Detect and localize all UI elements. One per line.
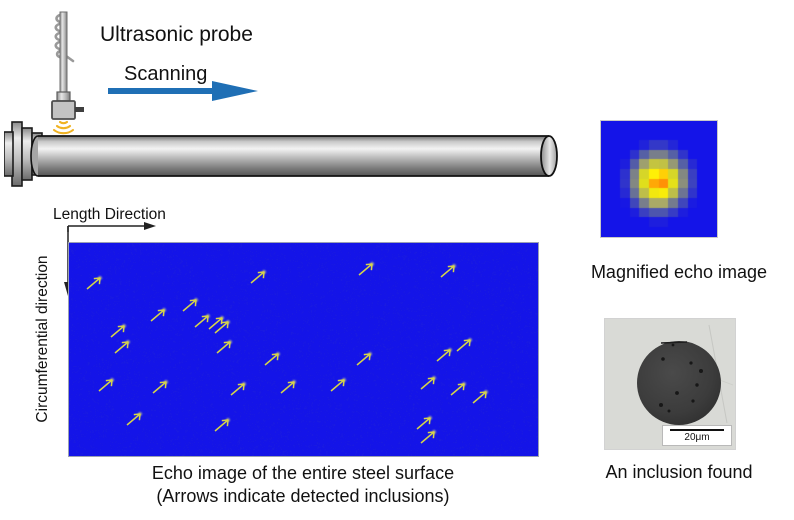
- inclusion-arrow-head: [99, 278, 100, 284]
- inclusion-arrow-head: [433, 378, 434, 384]
- inclusion-arrow-head: [243, 384, 244, 390]
- pipe-end-cap: [541, 136, 557, 176]
- inclusion-arrow-shaft: [183, 300, 196, 311]
- inclusion-arrow-head: [163, 310, 164, 316]
- inclusion-arrow-shaft: [111, 326, 124, 337]
- inclusion-caption: An inclusion found: [565, 462, 793, 483]
- inclusion-arrow-head: [433, 432, 434, 438]
- main-echo-caption-line1: Echo image of the entire steel surface: [68, 462, 538, 485]
- inclusion-arrow-head: [463, 384, 464, 390]
- scale-bar: 20μm: [662, 425, 732, 446]
- inclusion-arrow-head: [127, 342, 128, 348]
- inclusion-arrow-head: [258, 272, 264, 273]
- inclusion-arrow-head: [165, 382, 166, 388]
- inclusion-arrow-head: [106, 380, 112, 381]
- inclusion-arrow-shaft: [215, 420, 228, 431]
- magnified-echo-heatmap: [601, 121, 717, 237]
- inclusion-arrow-shaft: [473, 392, 486, 403]
- inclusion-arrow-head: [277, 354, 278, 360]
- inclusion-arrow-shaft: [421, 432, 434, 443]
- inclusion-arrow-head: [469, 340, 470, 346]
- inclusion-arrow-shaft: [195, 316, 208, 327]
- ultrasonic-probe-label: Ultrasonic probe: [100, 23, 253, 47]
- inclusion-arrow-head: [424, 418, 430, 419]
- inclusion-micrograph: 20μm: [604, 318, 736, 450]
- inclusion-arrow-shaft: [231, 384, 244, 395]
- inclusion-arrow-shaft: [421, 378, 434, 389]
- scanning-label: Scanning: [124, 63, 207, 86]
- probe-shaft: [60, 12, 67, 94]
- inclusion-arrow-head: [94, 278, 100, 279]
- inclusion-arrow-head: [139, 414, 140, 420]
- length-direction-label: Length Direction: [53, 206, 166, 224]
- inclusion-arrow-head: [364, 354, 370, 355]
- inclusion-arrow-shaft: [441, 266, 454, 277]
- inclusion-arrow-head: [158, 310, 164, 311]
- probe-head: [52, 101, 75, 119]
- inclusion-arrow-head: [449, 350, 450, 356]
- inclusion-arrow-head: [229, 342, 230, 348]
- inclusion-arrow-head: [338, 380, 344, 381]
- main-echo-image: [68, 242, 539, 457]
- inclusion-arrow-head: [207, 316, 208, 322]
- inclusion-arrow-shaft: [115, 342, 128, 353]
- magnified-echo-caption: Magnified echo image: [565, 262, 793, 283]
- inclusion-arrow-head: [343, 380, 344, 386]
- steel-pipe-illustration: [4, 118, 570, 190]
- inclusion-arrow-head: [190, 300, 196, 301]
- inclusion-arrow-head: [428, 432, 434, 433]
- inclusion-arrow-head: [371, 264, 372, 270]
- inclusion-arrow-head: [216, 318, 222, 319]
- inclusion-arrow-shaft: [217, 342, 230, 353]
- pipe-flange-hub: [4, 132, 13, 176]
- inclusion-arrow-head: [458, 384, 464, 385]
- inclusion-arrow-shaft: [359, 264, 372, 275]
- probe-collar: [57, 92, 70, 101]
- inclusion-arrow-head: [464, 340, 470, 341]
- inclusion-arrow-head: [160, 382, 166, 383]
- inclusion-arrow-shaft: [437, 350, 450, 361]
- inclusion-arrow-shaft: [357, 354, 370, 365]
- inclusion-arrow-head: [453, 266, 454, 272]
- inclusion-arrow-head: [227, 420, 228, 426]
- inclusion-arrow-shaft: [127, 414, 140, 425]
- main-echo-caption: Echo image of the entire steel surface (…: [68, 462, 538, 508]
- pipe-body: [38, 136, 549, 176]
- scale-bar-label: 20μm: [670, 432, 724, 443]
- circumferential-direction-label: Circumferential direction: [34, 229, 52, 449]
- probe-connector: [75, 107, 84, 112]
- main-echo-caption-line2: (Arrows indicate detected inclusions): [68, 485, 538, 508]
- figure-canvas: Ultrasonic probe Scanning: [0, 0, 794, 520]
- inclusion-arrow-head: [444, 350, 450, 351]
- inclusion-arrow-shaft: [209, 318, 222, 329]
- scale-bar-line: [670, 429, 724, 431]
- inclusion-arrow-head: [118, 326, 124, 327]
- inclusion-arrow-head: [224, 342, 230, 343]
- inclusion-arrow-head: [448, 266, 454, 267]
- inclusion-arrow-shaft: [87, 278, 100, 289]
- inclusion-arrow-shaft: [153, 382, 166, 393]
- inclusion-arrow-head: [366, 264, 372, 265]
- inclusion-arrow-shaft: [151, 310, 164, 321]
- inclusion-arrow-head: [238, 384, 244, 385]
- inclusion-arrow-head: [272, 354, 278, 355]
- magnified-echo-image: [600, 120, 718, 238]
- inclusion-arrow-shaft: [451, 384, 464, 395]
- inclusion-arrow-head: [122, 342, 128, 343]
- inclusion-arrow-head: [195, 300, 196, 306]
- inclusion-arrow-head: [429, 418, 430, 424]
- inclusion-particle: [637, 341, 721, 425]
- inclusion-arrow-head: [134, 414, 140, 415]
- inclusion-arrow-head: [293, 382, 294, 388]
- inclusion-arrow-shaft: [417, 418, 430, 429]
- inclusion-arrow-shaft: [281, 382, 294, 393]
- inclusion-arrow-head: [428, 378, 434, 379]
- inclusion-arrow-head: [288, 382, 294, 383]
- inclusion-arrow-overlay: [69, 243, 538, 456]
- inclusion-arrow-head: [222, 420, 228, 421]
- inclusion-arrow-head: [263, 272, 264, 278]
- inclusion-arrow-head: [480, 392, 486, 393]
- inclusion-arrow-shaft: [457, 340, 470, 351]
- inclusion-arrow-head: [222, 322, 228, 323]
- inclusion-arrow-shaft: [99, 380, 112, 391]
- inclusion-arrow-shaft: [331, 380, 344, 391]
- inclusion-arrow-head: [485, 392, 486, 398]
- inclusion-arrow-head: [227, 322, 228, 328]
- inclusion-arrow-head: [369, 354, 370, 360]
- inclusion-arrow-shaft: [251, 272, 264, 283]
- inclusion-arrow-head: [202, 316, 208, 317]
- inclusion-arrow-head: [111, 380, 112, 386]
- inclusion-arrow-head: [123, 326, 124, 332]
- inclusion-arrow-shaft: [265, 354, 278, 365]
